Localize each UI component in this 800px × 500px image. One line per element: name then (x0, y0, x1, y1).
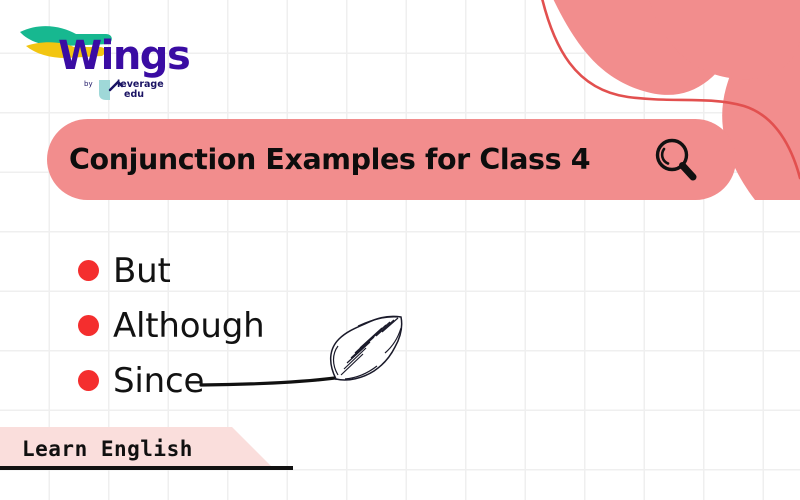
list-item: But (78, 243, 264, 298)
logo-leverage-mark-icon (99, 80, 110, 100)
list-item: Although (78, 298, 264, 353)
footer-label: Learn English (22, 437, 193, 461)
list-item: Since (78, 353, 264, 408)
list-item-label: Although (113, 309, 264, 343)
list-item-label: But (113, 254, 171, 288)
magnifying-glass-icon[interactable] (650, 134, 702, 186)
list-item-label: Since (113, 364, 204, 398)
logo-sub-brand-line2: edu (124, 89, 144, 100)
title-banner: Conjunction Examples for Class 4 (47, 119, 736, 200)
page-title: Conjunction Examples for Class 4 (69, 143, 650, 176)
poster-canvas: Wings by leverage edu Conjunction Exampl… (0, 0, 800, 500)
conjunction-list: But Although Since (78, 243, 264, 408)
bullet-dot-icon (78, 315, 99, 336)
bullet-dot-icon (78, 260, 99, 281)
logo-by-label: by (84, 80, 93, 88)
footer-rule (0, 466, 293, 470)
logo-wordmark: Wings (58, 33, 189, 79)
wings-logo[interactable]: Wings by leverage edu (14, 16, 194, 102)
bullet-dot-icon (78, 370, 99, 391)
